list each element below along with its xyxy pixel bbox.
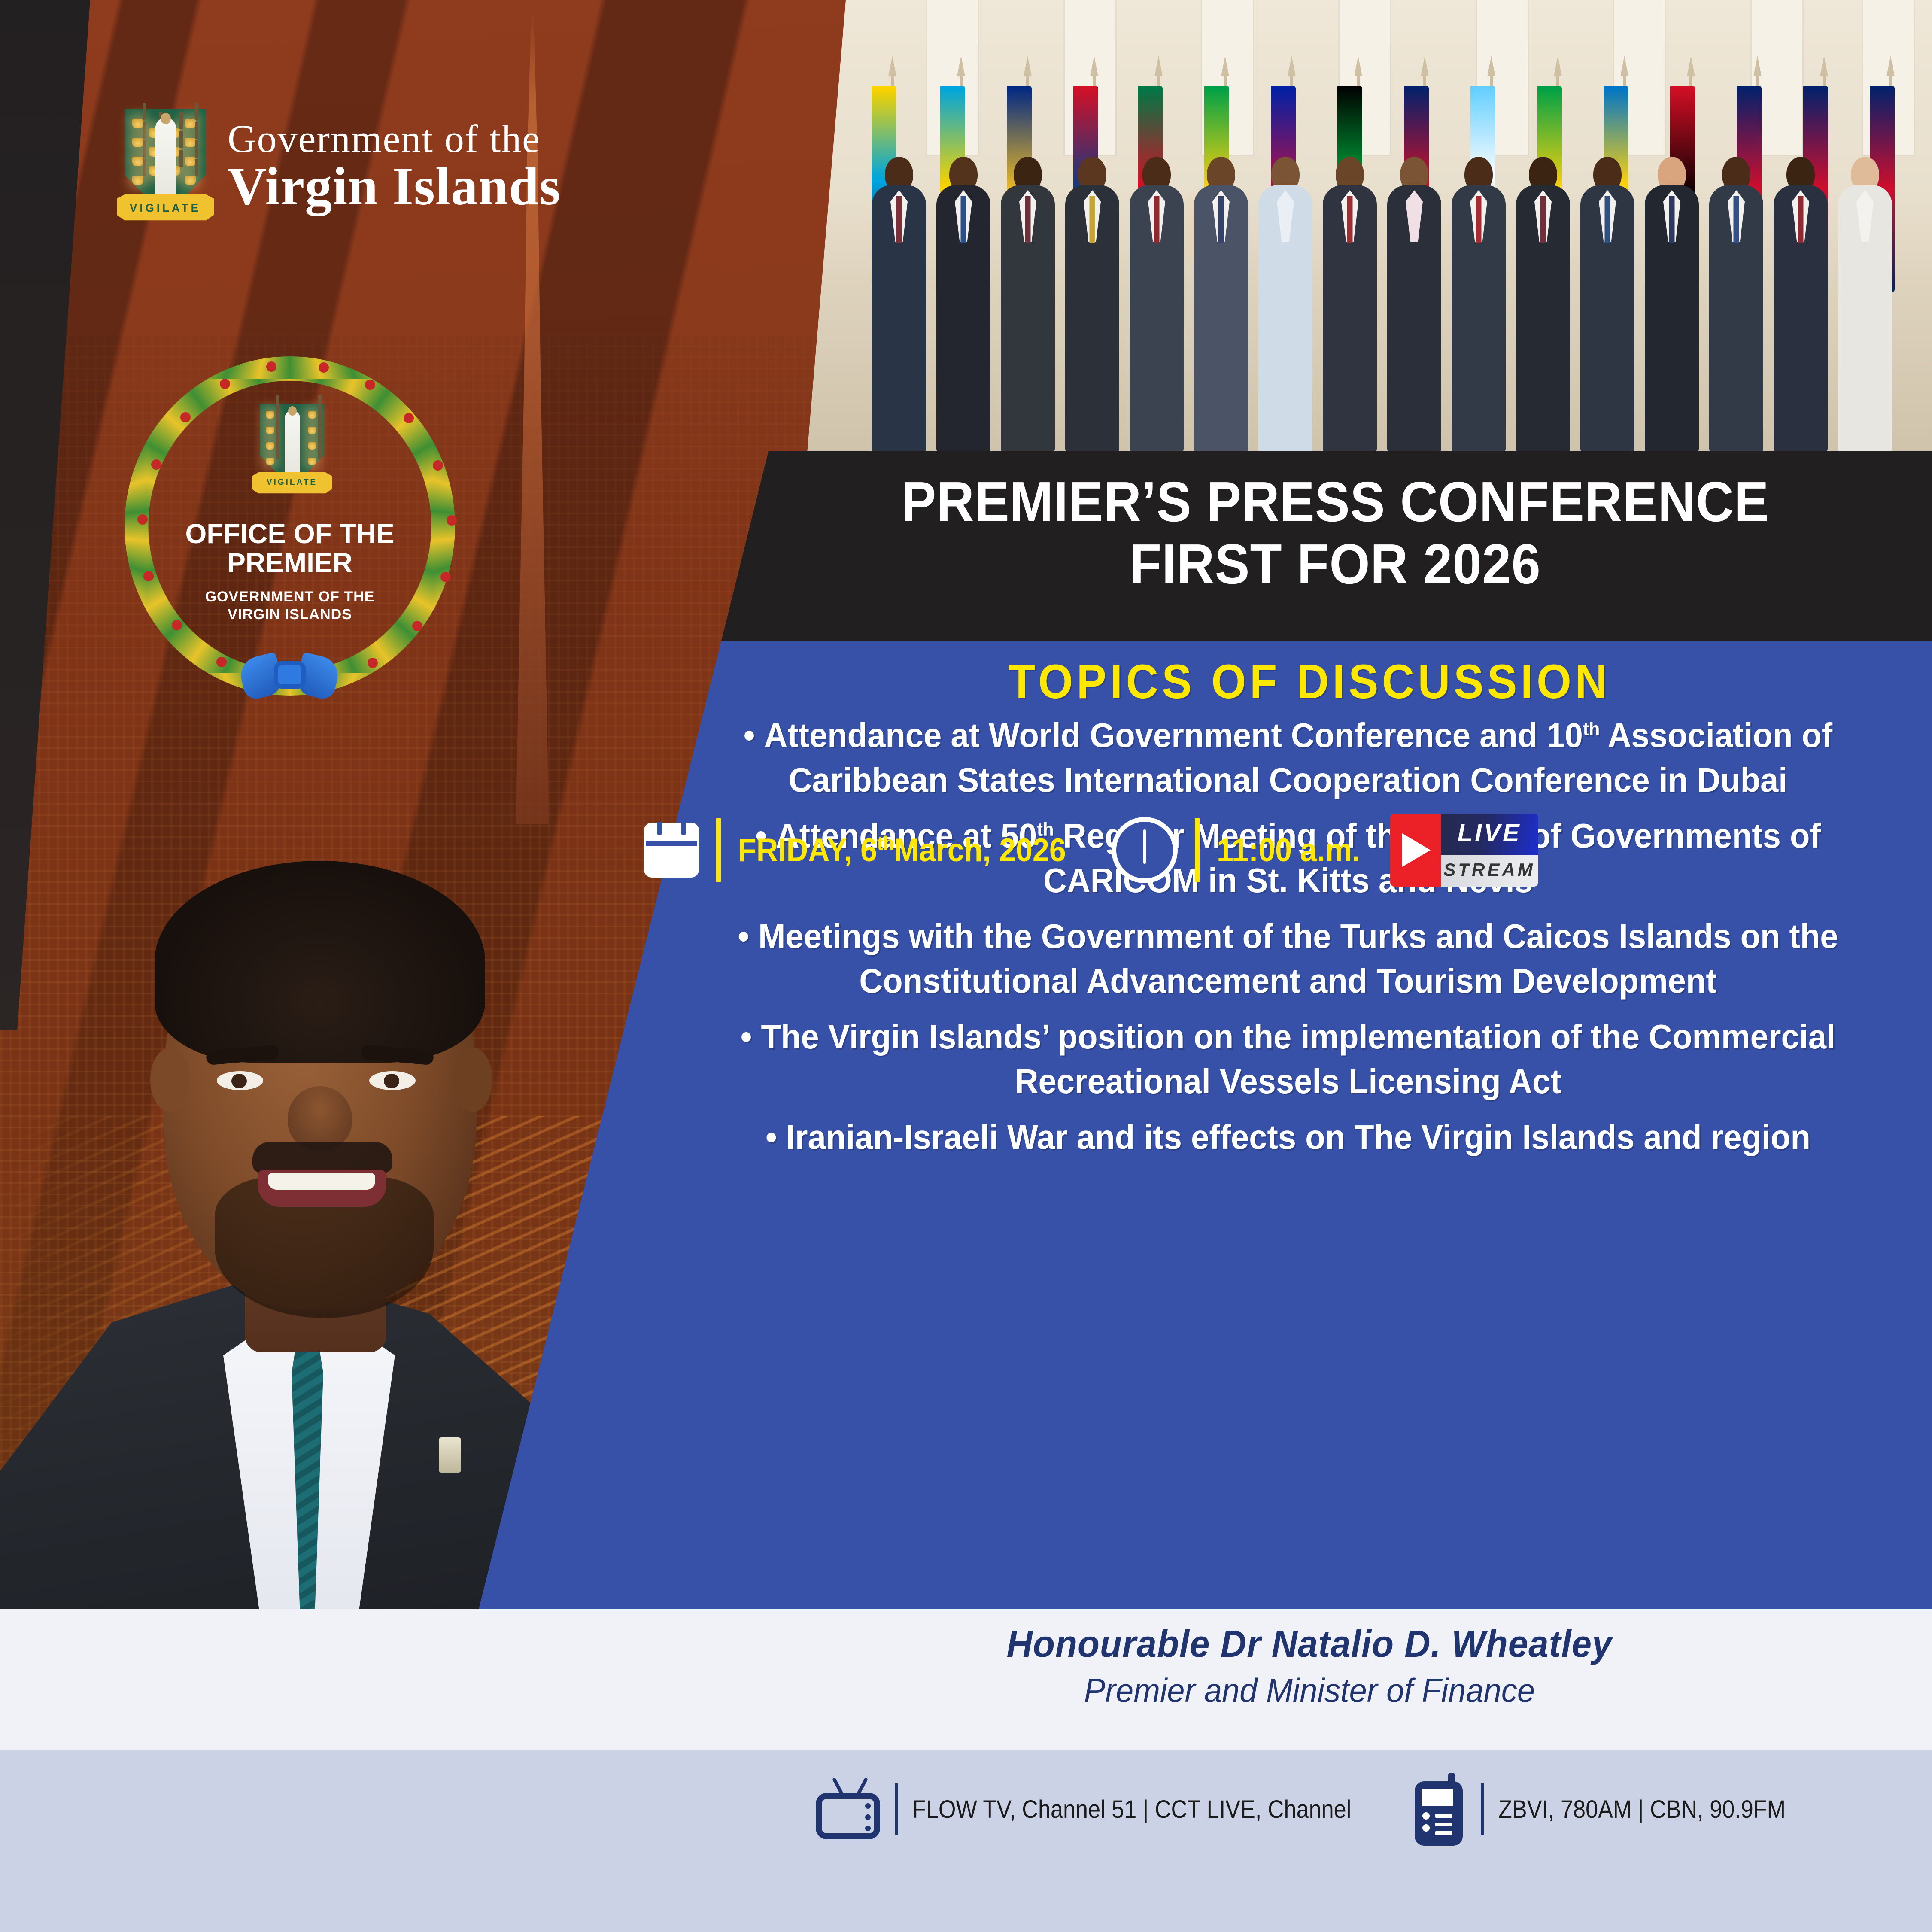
divider-3 [895,1783,898,1835]
heads-of-government-photo [764,0,1932,453]
broadcast-panel: FLOW TV, Channel 51 | CCT LIVE, Channel … [0,1750,1932,1932]
topics-heading: TOPICS OF DISCUSSION [771,654,1849,709]
live-label: LIVE [1441,819,1538,848]
speaker-role: Premier and Minister of Finance [759,1671,1860,1710]
play-icon [1402,833,1431,867]
stream-label: STREAM [1441,860,1538,880]
radio-stations: ZBVI, 780AM | CBN, 90.9FM [1498,1795,1786,1824]
office-of-the-premier-seal: VIGILATE OFFICE OF THE PREMIER GOVERNMEN… [99,343,481,730]
speaker-name: Honourable Dr Natalio D. Wheatley [759,1622,1860,1666]
topics-list: • Attendance at World Government Confere… [701,713,1875,1171]
gov-title-line2: Virgin Islands [228,158,683,215]
title-line-2: FIRST FOR 2026 [1130,532,1541,595]
list-item: • Meetings with the Government of the Tu… [701,914,1875,1003]
seal-title: OFFICE OF THE PREMIER [140,519,440,578]
divider-1 [716,818,721,882]
tv-channels: FLOW TV, Channel 51 | CCT LIVE, Channel [912,1795,1351,1824]
list-item: • Iranian-Israeli War and its effects on… [701,1115,1875,1160]
seal-subtitle: GOVERNMENT OF THE VIRGIN ISLANDS [159,588,421,623]
clock-icon [1112,817,1178,883]
crest-motto: VIGILATE [117,201,214,215]
divider-2 [1195,818,1200,882]
gov-title-line1: Government of the [228,119,683,158]
calendar-icon [644,823,699,878]
government-logo: VIGILATE Government of the Virgin Island… [125,109,683,251]
radio-icon [1415,1773,1466,1846]
speaker-panel: Honourable Dr Natalio D. Wheatley Premie… [0,1609,1932,1750]
live-stream-badge[interactable]: LIVE STREAM [1390,814,1538,887]
press-conference-poster: VIGILATE Government of the Virgin Island… [0,0,1932,1932]
blue-ribbon-bow-icon [240,644,339,721]
divider-4 [1481,1783,1484,1835]
seal-motto: VIGILATE [252,478,332,487]
list-item: • Attendance at World Government Confere… [701,713,1875,802]
lapel-pin [439,1437,461,1473]
event-date: FRIDAY, 6thMarch, 2026 [738,832,1066,869]
list-item: • The Virgin Islands’ position on the im… [701,1015,1875,1104]
title-line-1: PREMIER’S PRESS CONFERENCE [901,470,1769,533]
television-icon [816,1775,880,1844]
event-details-row: FRIDAY, 6thMarch, 2026 11:00 a.m. LIVE S… [644,809,1889,891]
seal-coat-of-arms-icon: VIGILATE [260,404,324,511]
page-title: PREMIER’S PRESS CONFERENCE FIRST FOR 202… [814,471,1857,595]
vi-coat-of-arms-icon: VIGILATE [125,109,206,238]
event-time: 11:00 a.m. [1217,832,1360,869]
